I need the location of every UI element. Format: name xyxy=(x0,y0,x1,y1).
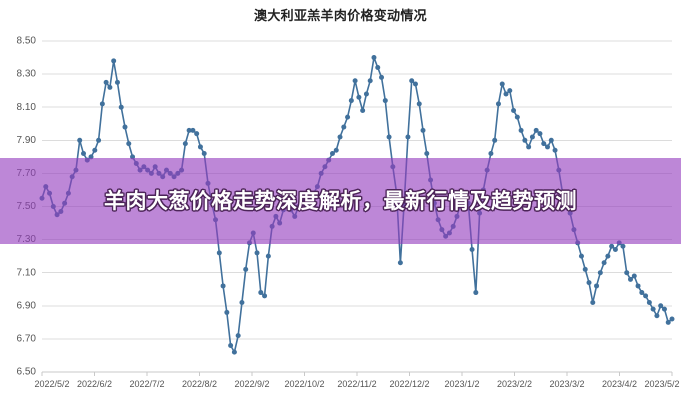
chart-screenshot: 澳大利亚羔羊肉价格变动情况 8.508.308.107.907.707.507.… xyxy=(0,0,681,400)
overlay-headline-text: 羊肉大葱价格走势深度解析，最新行情及趋势预测 xyxy=(30,186,651,217)
svg-text:2022/8/2: 2022/8/2 xyxy=(182,379,217,389)
svg-text:2023/3/2: 2023/3/2 xyxy=(549,379,584,389)
svg-text:8.10: 8.10 xyxy=(17,102,37,113)
svg-text:6.90: 6.90 xyxy=(17,300,37,311)
svg-text:7.90: 7.90 xyxy=(17,135,37,146)
svg-text:2022/5/2: 2022/5/2 xyxy=(34,379,69,389)
svg-text:2022/9/2: 2022/9/2 xyxy=(234,379,269,389)
svg-text:2023/5/2: 2023/5/2 xyxy=(644,379,679,389)
svg-text:2022/10/2: 2022/10/2 xyxy=(284,379,324,389)
svg-text:2023/1/2: 2023/1/2 xyxy=(444,379,479,389)
svg-text:2022/7/2: 2022/7/2 xyxy=(129,379,164,389)
svg-text:2022/12/2: 2022/12/2 xyxy=(389,379,429,389)
svg-text:8.30: 8.30 xyxy=(17,69,37,80)
svg-text:2022/11/2: 2022/11/2 xyxy=(337,379,376,389)
svg-text:8.50: 8.50 xyxy=(17,36,37,47)
svg-text:6.70: 6.70 xyxy=(17,334,37,345)
x-axis-labels: 2022/5/22022/6/22022/7/22022/8/22022/9/2… xyxy=(34,372,679,389)
svg-text:2023/4/2: 2023/4/2 xyxy=(602,379,637,389)
overlay-headline-banner: 羊肉大葱价格走势深度解析，最新行情及趋势预测 xyxy=(0,158,681,244)
svg-text:2023/2/2: 2023/2/2 xyxy=(497,379,532,389)
svg-text:6.50: 6.50 xyxy=(17,367,37,378)
svg-text:7.10: 7.10 xyxy=(17,267,37,278)
svg-text:2022/6/2: 2022/6/2 xyxy=(77,379,112,389)
